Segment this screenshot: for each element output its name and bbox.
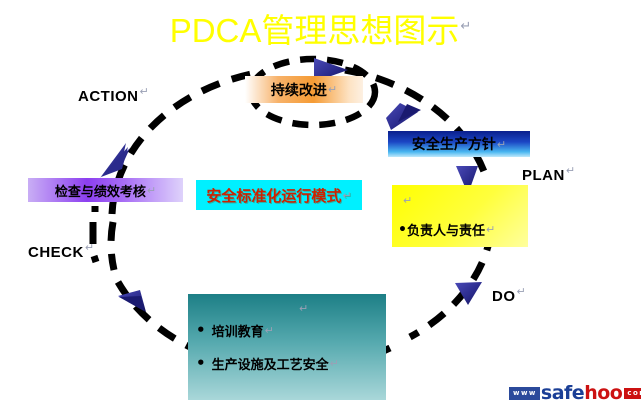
site-watermark: wwwsafehoocom (509, 384, 641, 403)
stage-label-do: DO↵ (492, 285, 526, 305)
arrow-plan-icon (386, 103, 421, 130)
list-item: •生产设施及工艺安全↵ (196, 354, 339, 373)
pilcrow-mark: ↵ (139, 86, 150, 98)
stage-label-action-text: ACTION (78, 88, 139, 105)
pilcrow-mark: ↵ (329, 357, 339, 370)
stage-label-action: ACTION↵ (78, 85, 149, 105)
box-safety-policy: 安全生产方针↵ (388, 131, 530, 157)
watermark-hoo: hoo (584, 384, 622, 403)
box-training-item-0-text: 培训教育 (212, 321, 264, 340)
box-responsibility: ↵ •负责人与责任↵ (392, 185, 528, 247)
stage-label-do-text: DO (492, 288, 516, 305)
watermark-www: www (509, 387, 540, 400)
pilcrow-mark: ↵ (485, 223, 495, 236)
stage-label-plan: PLAN↵ (522, 164, 576, 184)
box-check-performance: 检查与绩效考核↵ (28, 178, 183, 202)
watermark-com: com (624, 388, 641, 399)
box-training-item-1-text: 生产设施及工艺安全 (212, 354, 329, 373)
list-item: •负责人与责任↵ (398, 220, 495, 239)
list-item: •培训教育↵ (196, 321, 274, 340)
box-operating-mode-text: 安全标准化运行模式 (206, 185, 341, 206)
arrow-action-icon (100, 143, 130, 178)
box-continuous-improvement-text: 持续改进 (271, 80, 327, 100)
bullet-icon: • (196, 356, 206, 371)
stage-label-check: CHECK↵ (28, 241, 95, 261)
pilcrow-mark: ↵ (341, 189, 351, 202)
box-training: ↵ •培训教育↵ •生产设施及工艺安全↵ (188, 294, 386, 400)
bullet-icon: • (398, 222, 407, 238)
bullet-icon: • (196, 323, 206, 338)
box-continuous-improvement: 持续改进↵ (245, 76, 363, 103)
pilcrow-mark: ↵ (516, 286, 527, 298)
stage-label-check-text: CHECK (28, 244, 84, 261)
pdca-diagram-canvas: PDCA管理思想图示↵ (0, 0, 641, 415)
pilcrow-mark: ↵ (402, 194, 412, 207)
stage-label-plan-text: PLAN (522, 167, 565, 184)
pilcrow-mark: ↵ (264, 324, 274, 337)
box-responsibility-text: 负责人与责任 (407, 220, 485, 239)
pilcrow-mark: ↵ (84, 242, 95, 254)
box-check-performance-text: 检查与绩效考核 (55, 181, 146, 200)
pilcrow-mark: ↵ (327, 83, 337, 96)
pilcrow-mark: ↵ (146, 184, 156, 197)
pilcrow-mark: ↵ (298, 302, 308, 315)
pilcrow-mark: ↵ (496, 138, 506, 151)
watermark-safe: safe (541, 384, 584, 403)
pilcrow-mark: ↵ (565, 165, 576, 177)
box-operating-mode: 安全标准化运行模式↵ (196, 180, 362, 210)
box-safety-policy-text: 安全生产方针 (412, 134, 496, 154)
